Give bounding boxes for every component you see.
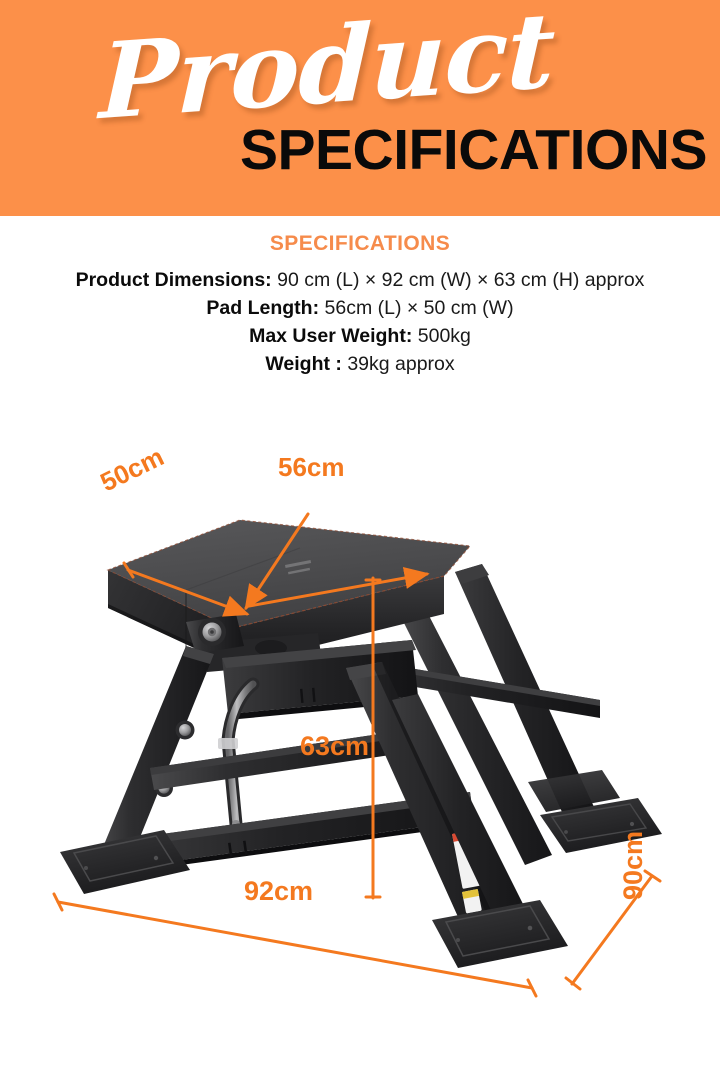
spec-value: 56cm (L) × 50 cm (W) bbox=[325, 297, 514, 319]
header-banner: SPECIFICATIONS Product bbox=[0, 0, 720, 216]
spec-label: Max User Weight: bbox=[249, 325, 412, 347]
spec-row-weight: Weight : 39kg approx bbox=[0, 351, 720, 379]
callout-label-63cm: 63cm bbox=[300, 731, 369, 761]
specifications-heading: SPECIFICATIONS bbox=[0, 232, 720, 256]
dimension-callouts: 50cm 56cm 63cm 92cm bbox=[54, 441, 660, 996]
callout-label-90cm: 90cm bbox=[618, 831, 648, 900]
spec-row-product-dimensions: Product Dimensions: 90 cm (L) × 92 cm (W… bbox=[0, 267, 720, 295]
header-title-block: SPECIFICATIONS bbox=[240, 122, 707, 179]
spec-value: 500kg bbox=[418, 325, 471, 347]
spec-label: Pad Length: bbox=[206, 297, 319, 319]
callout-label-56cm: 56cm bbox=[278, 452, 345, 482]
specifications-section: SPECIFICATIONS Product Dimensions: 90 cm… bbox=[0, 232, 720, 379]
bench-front-right-leg bbox=[346, 662, 512, 948]
spec-value: 39kg approx bbox=[347, 353, 454, 375]
callout-label-92cm: 92cm bbox=[244, 876, 313, 906]
bench-foot-front-right bbox=[432, 900, 568, 968]
callout-base-depth: 90cm bbox=[566, 831, 660, 989]
product-image: 50cm 56cm 63cm 92cm bbox=[0, 400, 720, 1000]
spec-label: Weight : bbox=[265, 353, 342, 375]
spec-label: Product Dimensions: bbox=[76, 269, 272, 291]
callout-label-50cm: 50cm bbox=[95, 441, 168, 497]
spec-row-pad-length: Pad Length: 56cm (L) × 50 cm (W) bbox=[0, 295, 720, 323]
spec-value: 90 cm (L) × 92 cm (W) × 63 cm (H) approx bbox=[277, 269, 644, 291]
header-title-script: Product bbox=[98, 0, 556, 134]
spec-row-max-user-weight: Max User Weight: 500kg bbox=[0, 323, 720, 351]
